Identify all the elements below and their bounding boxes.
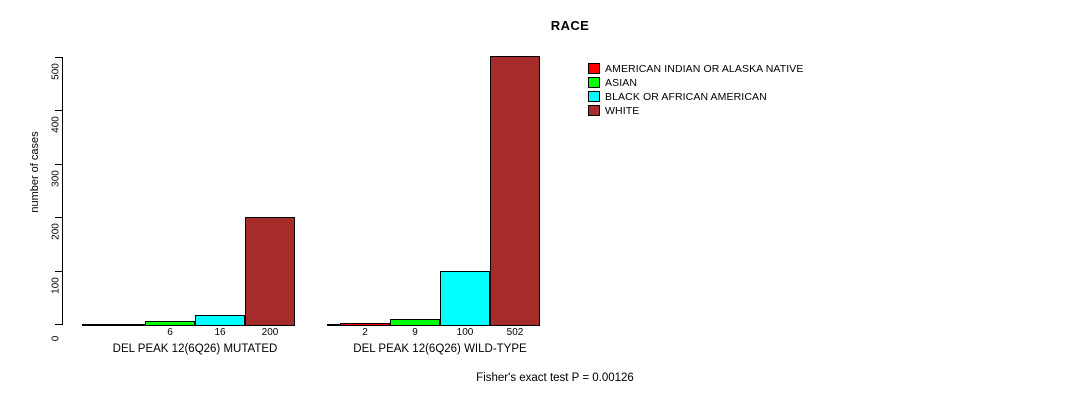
bar-chart-plot: RACE number of cases 0100200300400500 61…: [0, 0, 1090, 400]
statistical-test-note: Fisher's exact test P = 0.00126: [330, 372, 780, 384]
bar-value-label: 502: [490, 327, 540, 338]
bar[interactable]: [340, 323, 390, 326]
bar-value-label: 9: [390, 327, 440, 338]
legend-swatch-icon: [588, 91, 600, 102]
bar-value-label: 16: [195, 327, 245, 338]
legend-item-label: ASIAN: [605, 77, 637, 89]
legend-item[interactable]: AMERICAN INDIAN OR ALASKA NATIVE: [588, 62, 803, 75]
bars-layer: [0, 0, 1090, 326]
legend-item[interactable]: WHITE: [588, 104, 803, 117]
bar[interactable]: [145, 321, 195, 326]
legend-swatch-icon: [588, 105, 600, 116]
bar-value-label: 6: [145, 327, 195, 338]
legend-swatch-icon: [588, 63, 600, 74]
bar-value-label: 100: [440, 327, 490, 338]
legend-item-label: BLACK OR AFRICAN AMERICAN: [605, 91, 767, 103]
chart-legend: AMERICAN INDIAN OR ALASKA NATIVEASIANBLA…: [588, 62, 803, 118]
legend-item-label: WHITE: [605, 105, 639, 117]
bar[interactable]: [195, 315, 245, 326]
group-caption: DEL PEAK 12(6Q26) WILD-TYPE: [280, 343, 600, 355]
bar[interactable]: [390, 319, 440, 326]
bar[interactable]: [440, 271, 490, 326]
bar[interactable]: [245, 217, 295, 326]
bar-value-label: 200: [245, 327, 295, 338]
legend-item[interactable]: BLACK OR AFRICAN AMERICAN: [588, 90, 803, 103]
bar[interactable]: [490, 56, 540, 326]
bar-value-label: 2: [340, 327, 390, 338]
legend-swatch-icon: [588, 77, 600, 88]
legend-item-label: AMERICAN INDIAN OR ALASKA NATIVE: [605, 63, 803, 75]
legend-item[interactable]: ASIAN: [588, 76, 803, 89]
